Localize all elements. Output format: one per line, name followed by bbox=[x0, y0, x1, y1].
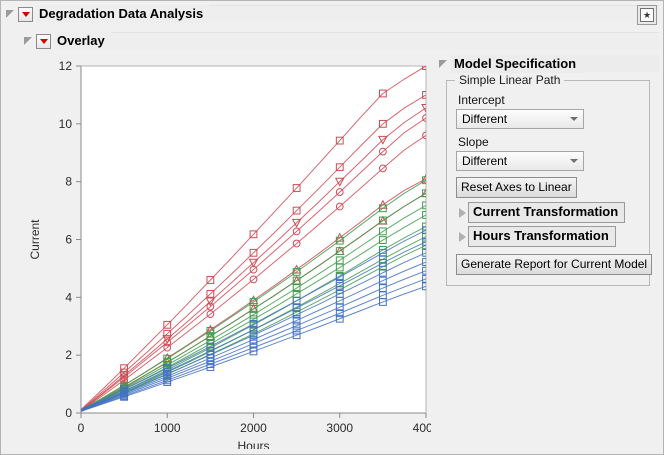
title-bar-filler bbox=[209, 5, 659, 23]
svg-text:3000: 3000 bbox=[326, 421, 353, 435]
svg-text:Hours: Hours bbox=[237, 439, 269, 449]
svg-text:4: 4 bbox=[65, 290, 72, 304]
current-transformation-button[interactable]: Current Transformation bbox=[468, 202, 625, 223]
degradation-line-chart[interactable]: 02468101201000200030004000HoursCurrent bbox=[23, 53, 431, 449]
hours-transformation-row[interactable]: Hours Transformation bbox=[456, 226, 640, 247]
disclosure-triangle-open-icon[interactable] bbox=[438, 59, 448, 69]
red-triangle-menu-icon[interactable] bbox=[18, 7, 33, 22]
star-icon: ★ bbox=[640, 8, 654, 22]
degradation-data-analysis-window: Degradation Data Analysis ★ Overlay 0246… bbox=[0, 0, 664, 455]
chevron-down-icon[interactable] bbox=[565, 152, 583, 170]
outline-header-degradation-data-analysis[interactable]: Degradation Data Analysis bbox=[5, 4, 659, 24]
model-specification-title: Model Specification bbox=[451, 55, 584, 73]
intercept-select[interactable]: Different bbox=[456, 109, 584, 129]
chevron-down-icon[interactable] bbox=[565, 110, 583, 128]
generate-report-button[interactable]: Generate Report for Current Model bbox=[456, 254, 652, 275]
disclosure-triangle-closed-icon[interactable] bbox=[456, 207, 467, 219]
intercept-label: Intercept bbox=[458, 93, 640, 107]
overlay-bar-filler bbox=[111, 32, 659, 50]
hours-transformation-button[interactable]: Hours Transformation bbox=[468, 226, 616, 247]
svg-text:10: 10 bbox=[59, 117, 73, 131]
disclosure-triangle-open-icon[interactable] bbox=[5, 9, 15, 19]
svg-text:4000: 4000 bbox=[413, 421, 431, 435]
favorites-button[interactable]: ★ bbox=[637, 5, 657, 25]
svg-text:6: 6 bbox=[65, 233, 72, 247]
overlay-title: Overlay bbox=[55, 32, 111, 50]
svg-text:12: 12 bbox=[59, 59, 73, 73]
red-triangle-menu-icon[interactable] bbox=[36, 34, 51, 49]
slope-label: Slope bbox=[458, 135, 640, 149]
disclosure-triangle-closed-icon[interactable] bbox=[456, 231, 467, 243]
model-specification-bar-filler bbox=[584, 55, 660, 72]
svg-text:8: 8 bbox=[65, 175, 72, 189]
group-legend-label: Simple Linear Path bbox=[455, 73, 564, 87]
reset-axes-to-linear-button[interactable]: Reset Axes to Linear bbox=[456, 177, 577, 198]
svg-text:2000: 2000 bbox=[240, 421, 267, 435]
simple-linear-path-group: Simple Linear Path Intercept Different S… bbox=[446, 80, 650, 286]
outline-header-overlay[interactable]: Overlay bbox=[23, 31, 659, 51]
outline-header-model-specification[interactable]: Model Specification bbox=[438, 54, 660, 73]
current-transformation-row[interactable]: Current Transformation bbox=[456, 202, 640, 223]
disclosure-triangle-open-icon[interactable] bbox=[23, 36, 33, 46]
svg-text:1000: 1000 bbox=[154, 421, 181, 435]
svg-text:0: 0 bbox=[78, 421, 85, 435]
svg-text:Current: Current bbox=[28, 219, 42, 260]
svg-text:2: 2 bbox=[65, 348, 72, 362]
overlay-plot[interactable]: 02468101201000200030004000HoursCurrent bbox=[23, 53, 431, 449]
intercept-value: Different bbox=[457, 112, 565, 126]
svg-text:0: 0 bbox=[65, 406, 72, 420]
page-title: Degradation Data Analysis bbox=[37, 5, 209, 23]
slope-value: Different bbox=[457, 154, 565, 168]
slope-select[interactable]: Different bbox=[456, 151, 584, 171]
model-specification-panel: Model Specification Simple Linear Path I… bbox=[438, 54, 660, 446]
